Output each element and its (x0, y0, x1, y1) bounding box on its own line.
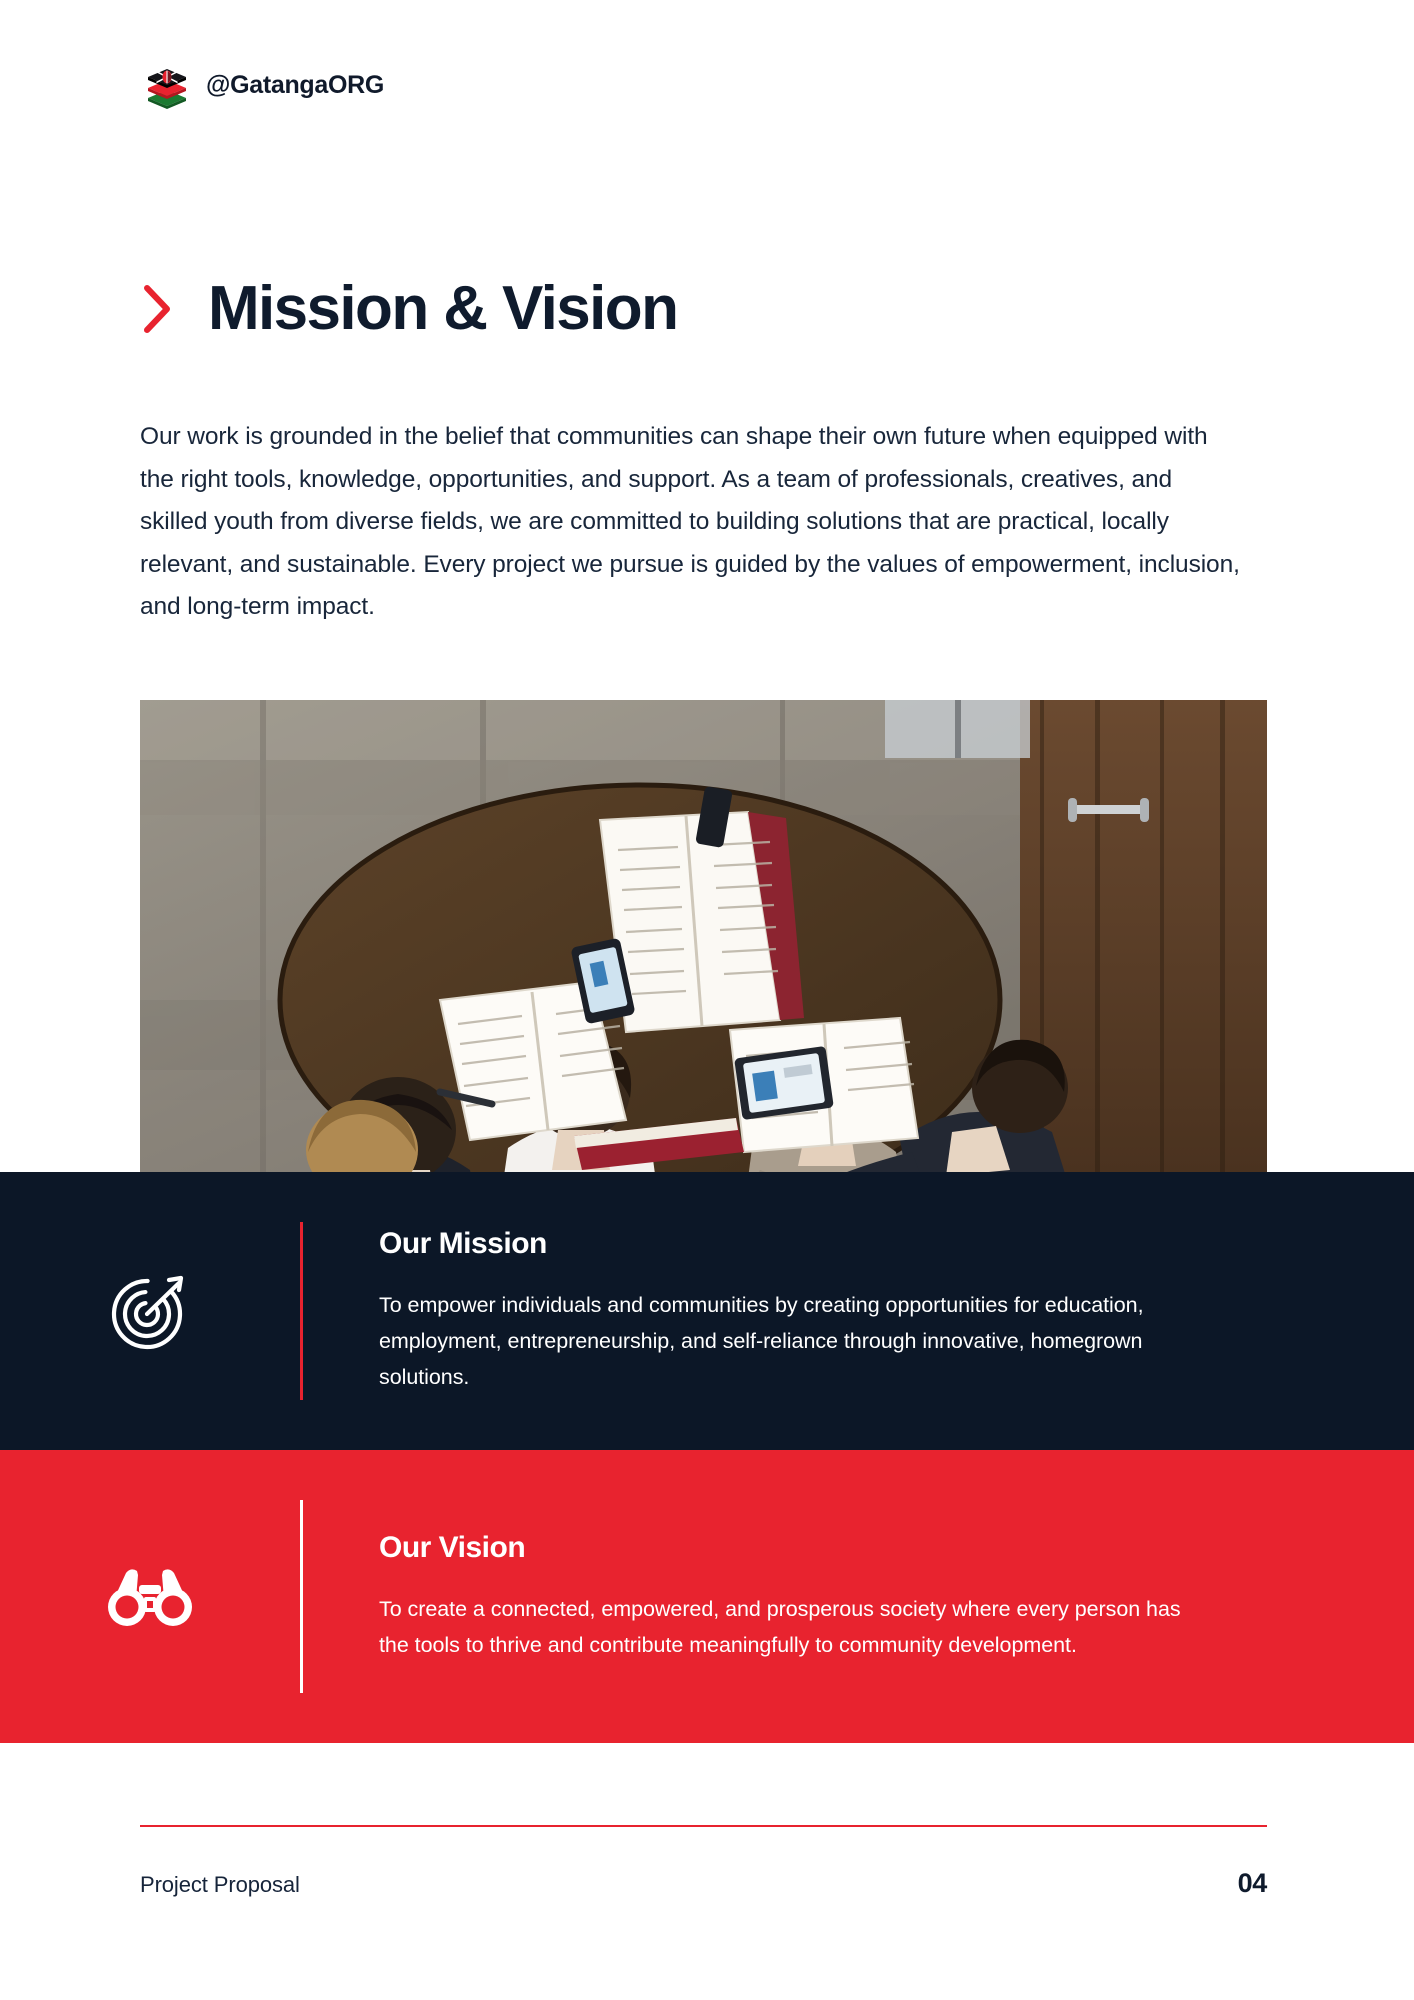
brand-header: @GatangaORG (140, 58, 384, 112)
mission-heading: Our Mission (379, 1227, 1294, 1261)
vision-body: Our Vision To create a connected, empowe… (303, 1531, 1414, 1663)
binoculars-icon (107, 1561, 193, 1633)
footer-label: Project Proposal (140, 1872, 300, 1898)
mission-body: Our Mission To empower individuals and c… (303, 1227, 1414, 1395)
team-meeting-overhead-photo (140, 700, 1267, 1175)
mission-icon-wrap (0, 1268, 300, 1354)
brand-name: @GatangaORG (206, 71, 384, 100)
footer: Project Proposal 04 (140, 1868, 1267, 1899)
document-page: @GatangaORG Mission & Vision Our work is… (0, 0, 1414, 2000)
page-title-row: Mission & Vision (140, 278, 677, 340)
vision-heading: Our Vision (379, 1531, 1294, 1565)
intro-paragraph: Our work is grounded in the belief that … (140, 416, 1240, 629)
mission-text: To empower individuals and communities b… (379, 1287, 1209, 1395)
page-number: 04 (1238, 1868, 1267, 1899)
vision-band: Our Vision To create a connected, empowe… (0, 1450, 1414, 1743)
vision-icon-wrap (0, 1561, 300, 1633)
target-dart-icon (107, 1268, 193, 1354)
page-title: Mission & Vision (208, 278, 677, 340)
footer-divider (140, 1825, 1267, 1827)
kenya-flag-books-logo-icon (140, 58, 194, 112)
chevron-right-icon (140, 282, 174, 336)
mission-band: Our Mission To empower individuals and c… (0, 1172, 1414, 1450)
vision-text: To create a connected, empowered, and pr… (379, 1591, 1209, 1663)
